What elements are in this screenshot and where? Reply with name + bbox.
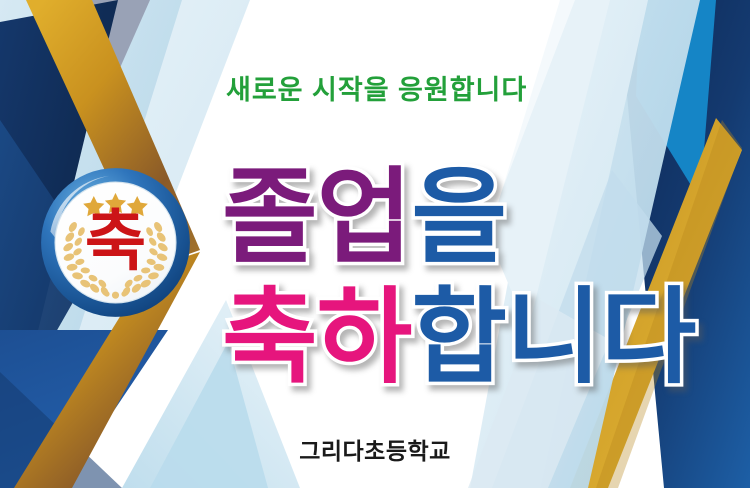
award-medal-emblem: 축 (38, 165, 193, 320)
graduation-banner: 축 새로운 시작을 응원합니다 졸업을 축하합니다 그리다초등학교 (0, 0, 750, 488)
medal-center-character: 축 (85, 205, 146, 279)
